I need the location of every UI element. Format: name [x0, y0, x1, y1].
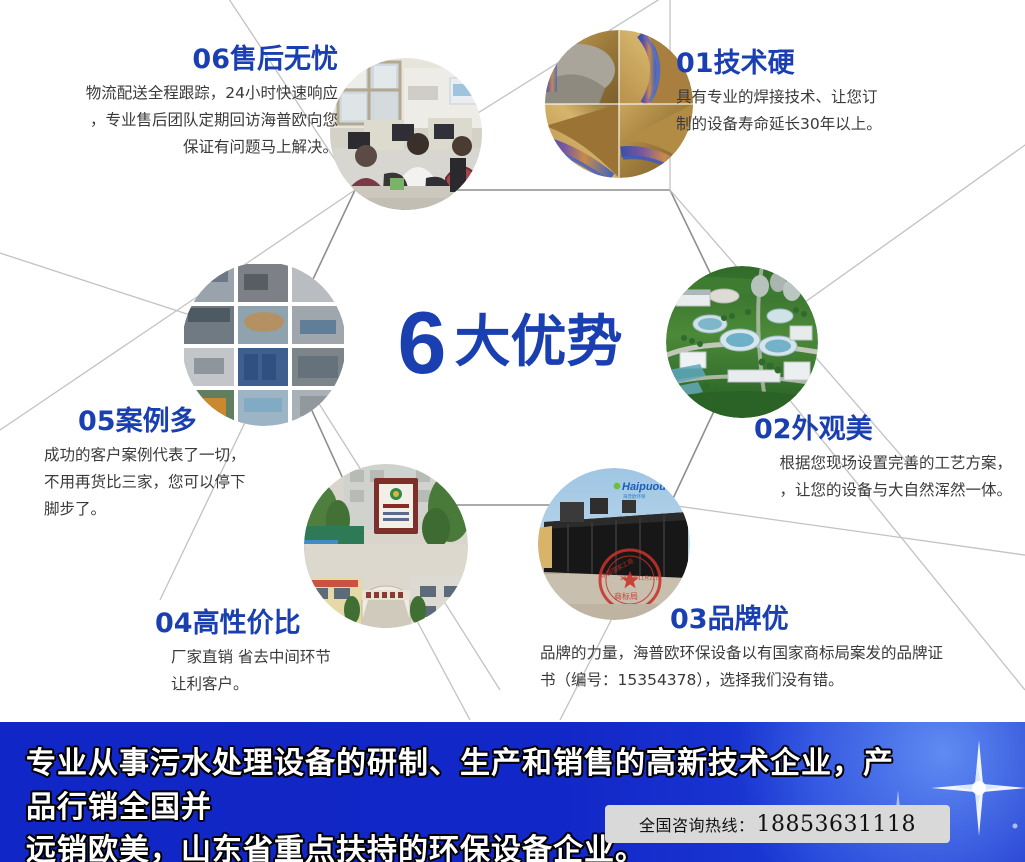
case-gallery-collage-photo	[182, 262, 346, 426]
banner-text: 专业从事污水处理设备的研制、生产和销售的高新技术企业，产品行销全国并 远销欧美，…	[26, 742, 906, 862]
hotline-label: 全国咨询热线：	[639, 812, 755, 836]
center-label-text: 大优势	[454, 315, 622, 371]
advantage-03-heading: 03品牌优	[670, 604, 1010, 635]
advantage-05-heading: 05案例多	[78, 406, 344, 437]
center-number: 6	[398, 299, 445, 387]
advantage-block-05: 05案例多 成功的客户案例代表了一切， 不用再货比三家，您可以停下 脚步了。	[44, 406, 344, 523]
advantage-block-02: 02外观美 根据您现场设置完善的工艺方案， ，让您的设备与大自然浑然一体。	[640, 414, 1012, 504]
advantage-block-06: 06售后无忧 物流配送全程跟踪，24小时快速响应 ，专业售后团队定期回访海普欧向…	[18, 44, 338, 161]
advantage-05-body: 成功的客户案例代表了一切， 不用再货比三家，您可以停下 脚步了。	[44, 442, 344, 523]
welded-pipe-joints-photo	[545, 30, 693, 178]
svg-text:2014年11月21日: 2014年11月21日	[620, 575, 660, 582]
center-title: 6 大优势	[350, 288, 670, 398]
advantage-block-04: 04高性价比 厂家直销 省去中间环节 让利客户。	[155, 608, 485, 698]
advantage-04-heading: 04高性价比	[155, 608, 485, 639]
hotline-number: 18853631118	[757, 812, 916, 837]
office-staff-photo	[330, 58, 482, 210]
aerial-sewage-plant-photo	[666, 266, 818, 418]
advantage-06-body: 物流配送全程跟踪，24小时快速响应 ，专业售后团队定期回访海普欧向您 保证有问题…	[18, 80, 338, 161]
advantages-infographic: Haipuou 海普欧环保 商标局 中国国家工商 2014年11月21日	[0, 0, 1025, 862]
svg-text:商标局: 商标局	[614, 591, 638, 601]
advantage-block-01: 01技术硬 具有专业的焊接技术、让您订 制的设备寿命延长30年以上。	[676, 48, 996, 138]
advantage-02-body: 根据您现场设置完善的工艺方案， ，让您的设备与大自然浑然一体。	[640, 450, 1012, 504]
advantage-03-body: 品牌的力量，海普欧环保设备以有国家商标局案发的品牌证 书（编号：15354378…	[540, 640, 1010, 694]
advantage-02-heading: 02外观美	[754, 414, 1012, 445]
advantage-block-03: 03品牌优 品牌的力量，海普欧环保设备以有国家商标局案发的品牌证 书（编号：15…	[540, 604, 1010, 694]
advantage-04-body: 厂家直销 省去中间环节 让利客户。	[171, 644, 485, 698]
advantage-01-heading: 01技术硬	[676, 48, 996, 79]
hotline-box[interactable]: 全国咨询热线： 18853631118	[605, 805, 950, 843]
advantage-06-heading: 06售后无忧	[18, 44, 338, 75]
advantage-01-body: 具有专业的焊接技术、让您订 制的设备寿命延长30年以上。	[676, 84, 996, 138]
